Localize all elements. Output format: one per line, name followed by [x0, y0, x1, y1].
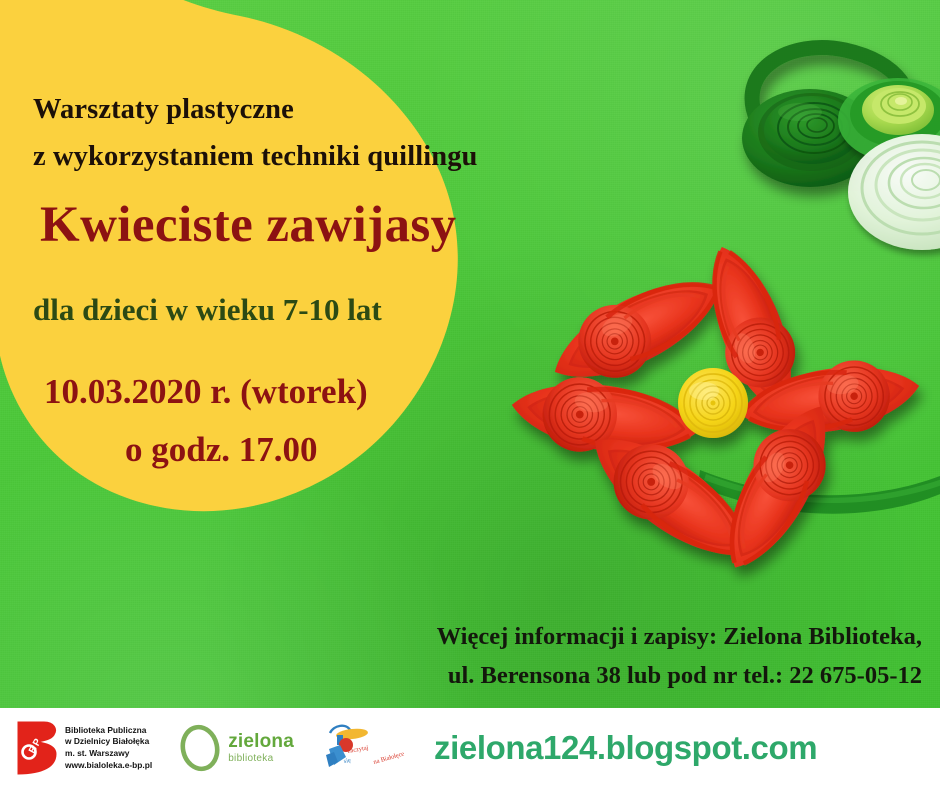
library-name-line-3: m. st. Warszawy [65, 748, 152, 760]
library-logo-block[interactable]: BP Biblioteka Publiczna w Dzielnicy Biał… [14, 720, 152, 776]
poster-title: Kwieciste zawijasy [40, 196, 457, 254]
svg-text:się: się [343, 757, 351, 765]
event-time: o godz. 17.00 [125, 430, 318, 470]
biblioteka-publiczna-logo-icon: BP [14, 720, 58, 776]
subtitle-line-2: z wykorzystaniem techniki quillingu [33, 141, 478, 173]
subtitle-line-1: Warsztaty plastyczne [33, 94, 294, 126]
contact-line-2: ul. Berensona 38 lub pod nr tel.: 22 675… [448, 662, 922, 690]
zaczytaj-sie-na-bialolece-logo-icon[interactable]: zaczytaj się na Białołęce [316, 721, 408, 775]
library-logo-text: Biblioteka Publiczna w Dzielnicy Białołę… [65, 725, 152, 771]
blog-url[interactable]: zielona124.blogspot.com [434, 729, 817, 767]
poster-canvas: Warsztaty plastyczne z wykorzystaniem te… [0, 0, 940, 788]
headline-block: Warsztaty plastyczne z wykorzystaniem te… [0, 0, 600, 520]
audience-line: dla dzieci w wieku 7-10 lat [33, 292, 382, 328]
contact-line-1: Więcej informacji i zapisy: Zielona Bibl… [437, 623, 922, 651]
library-name-line-2: w Dzielnicy Białołęka [65, 736, 152, 748]
svg-text:na Białołęce: na Białołęce [373, 750, 406, 766]
event-date: 10.03.2020 r. (wtorek) [44, 372, 368, 412]
green-ring-icon [178, 723, 222, 773]
biblioteka-word: biblioteka [228, 752, 294, 765]
library-website-line: www.bialoleka.e-bp.pl [65, 760, 152, 772]
zielona-word: zielona [228, 732, 294, 752]
library-name-line-1: Biblioteka Publiczna [65, 725, 152, 737]
footer-bar: BP Biblioteka Publiczna w Dzielnicy Biał… [0, 708, 940, 788]
zielona-biblioteka-logo-block[interactable]: zielona biblioteka [178, 723, 294, 773]
